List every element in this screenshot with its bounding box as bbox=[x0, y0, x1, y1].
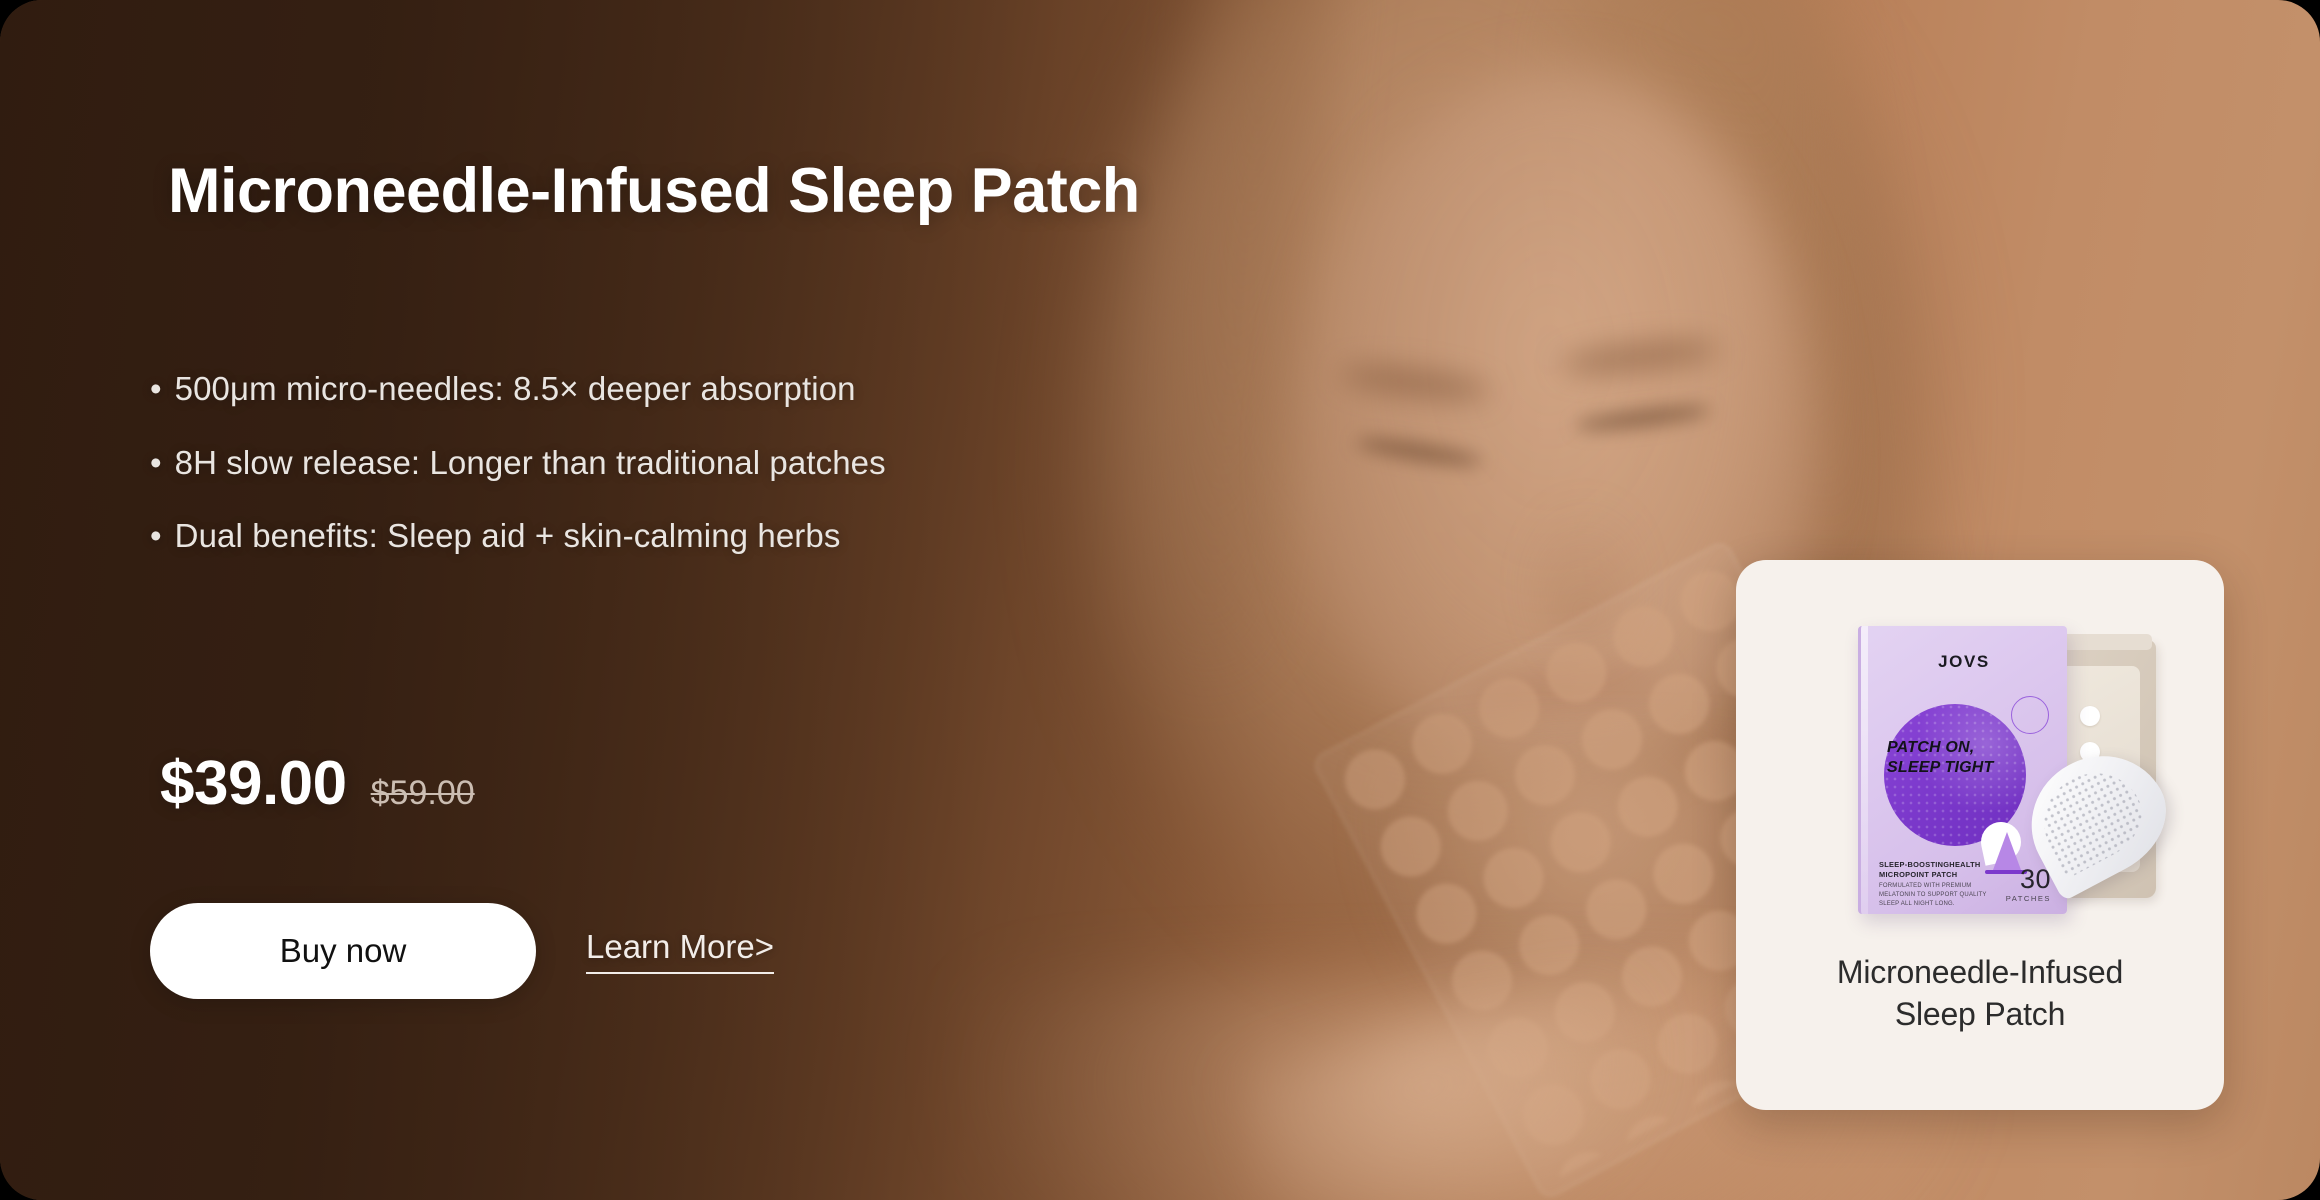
feature-text: Dual benefits: Sleep aid + skin-calming … bbox=[175, 517, 841, 554]
bullet-marker-icon: • bbox=[150, 444, 162, 481]
cta-row: Buy now Learn More> bbox=[150, 903, 774, 999]
page-title: Microneedle-Infused Sleep Patch bbox=[168, 155, 1140, 227]
bullet-marker-icon: • bbox=[150, 517, 162, 554]
product-card-caption: Microneedle-Infused Sleep Patch bbox=[1736, 952, 2224, 1035]
original-price: $59.00 bbox=[371, 774, 475, 813]
box-product-title: SLEEP-BOOSTINGHEALTH MICROPOINT PATCH bbox=[1879, 860, 1997, 881]
feature-text: 500μm micro-needles: 8.5× deeper absorpt… bbox=[175, 370, 856, 407]
price-block: $39.00 $59.00 bbox=[160, 748, 475, 819]
box-count-label: PATCHES bbox=[2006, 894, 2051, 903]
box-description: FORMULATED WITH PREMIUM MELATONIN TO SUP… bbox=[1879, 882, 1991, 909]
feature-text: 8H slow release: Longer than traditional… bbox=[175, 444, 886, 481]
box-needle-icon bbox=[1993, 832, 2021, 870]
product-card[interactable]: JOVS PATCH ON, SLEEP TIGHT SLEEP-BOOSTIN… bbox=[1736, 560, 2224, 1110]
pouch-patch-dot bbox=[2080, 706, 2100, 726]
product-image: JOVS PATCH ON, SLEEP TIGHT SLEEP-BOOSTIN… bbox=[1736, 582, 2224, 922]
current-price: $39.00 bbox=[160, 748, 347, 819]
box-slogan-line-2: SLEEP TIGHT bbox=[1887, 758, 2052, 778]
box-product-title-line-2: MICROPOINT PATCH bbox=[1879, 870, 1997, 880]
learn-more-link[interactable]: Learn More> bbox=[586, 928, 774, 974]
box-slogan-line-1: PATCH ON, bbox=[1887, 738, 2052, 758]
list-item: •Dual benefits: Sleep aid + skin-calming… bbox=[150, 519, 886, 554]
product-box: JOVS PATCH ON, SLEEP TIGHT SLEEP-BOOSTIN… bbox=[1858, 626, 2067, 914]
promo-banner: Microneedle-Infused Sleep Patch •500μm m… bbox=[0, 0, 2320, 1200]
list-item: •8H slow release: Longer than traditiona… bbox=[150, 446, 886, 481]
banner-content: Microneedle-Infused Sleep Patch •500μm m… bbox=[0, 0, 2320, 1200]
list-item: •500μm micro-needles: 8.5× deeper absorp… bbox=[150, 372, 886, 407]
product-card-caption-line-1: Microneedle-Infused bbox=[1736, 952, 2224, 994]
box-slogan: PATCH ON, SLEEP TIGHT bbox=[1887, 738, 2052, 778]
product-card-caption-line-2: Sleep Patch bbox=[1736, 994, 2224, 1036]
feature-list: •500μm micro-needles: 8.5× deeper absorp… bbox=[150, 372, 886, 593]
brand-logo: JOVS bbox=[1861, 652, 2067, 672]
box-outline-circle-icon bbox=[2011, 696, 2049, 734]
box-product-title-line-1: SLEEP-BOOSTINGHEALTH bbox=[1879, 860, 1997, 870]
bullet-marker-icon: • bbox=[150, 370, 162, 407]
buy-now-button[interactable]: Buy now bbox=[150, 903, 536, 999]
